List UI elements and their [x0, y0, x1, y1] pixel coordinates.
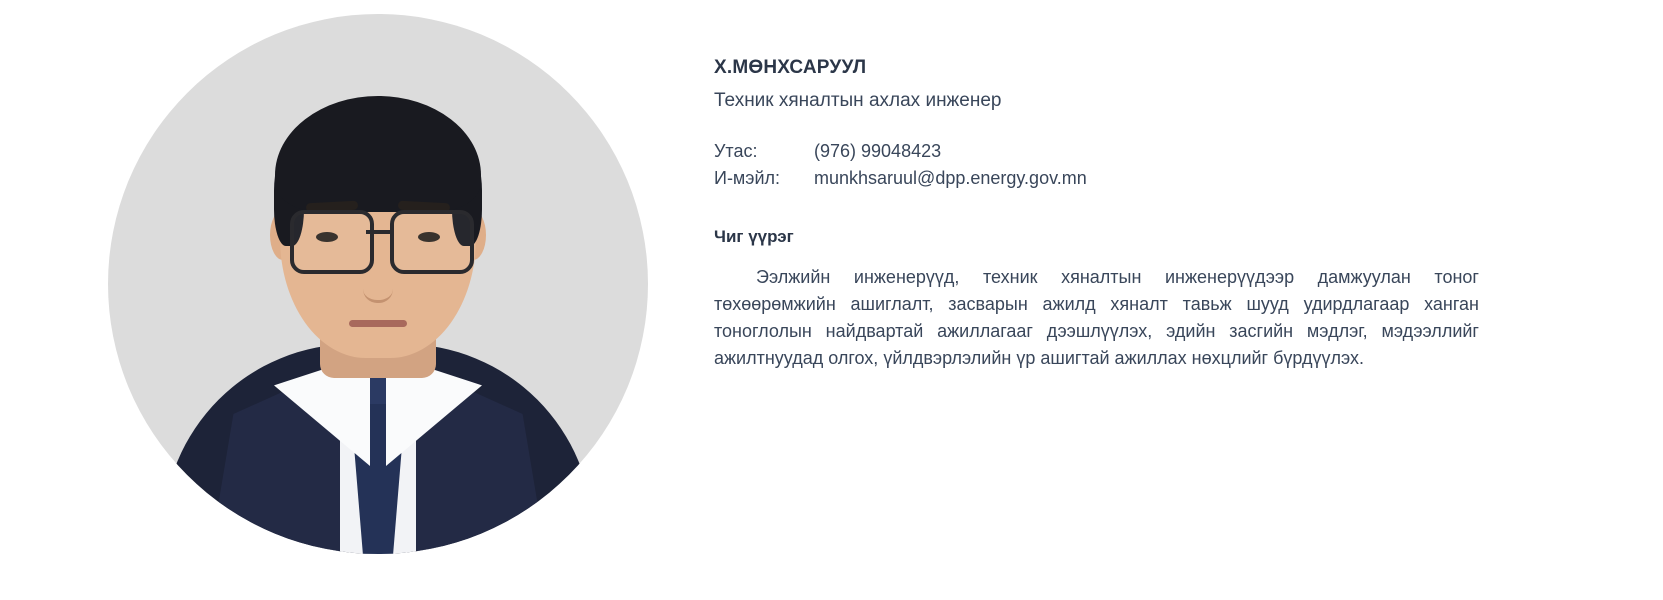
- hair: [275, 96, 481, 212]
- contact-row-phone: Утас:(976) 99048423: [714, 138, 1484, 165]
- eyeglasses-bridge: [366, 230, 390, 234]
- eyeglasses-lens-left: [290, 210, 374, 274]
- email-value[interactable]: munkhsaruul@dpp.energy.gov.mn: [814, 165, 1087, 192]
- contact-row-email: И-мэйл:munkhsaruul@dpp.energy.gov.mn: [714, 165, 1484, 192]
- person-name: Х.МӨНХСАРУУЛ: [714, 58, 1484, 79]
- nose: [363, 262, 393, 303]
- duties-paragraph: Ээлжийн инженерүүд, техник хяналтын инже…: [714, 267, 1479, 368]
- duties-text: Ээлжийн инженерүүд, техник хяналтын инже…: [714, 264, 1479, 372]
- portrait-photo: [108, 14, 648, 554]
- duties-section-title: Чиг үүрэг: [714, 228, 1484, 247]
- phone-value: (976) 99048423: [814, 138, 941, 165]
- contact-block: Утас:(976) 99048423 И-мэйл:munkhsaruul@d…: [714, 138, 1484, 192]
- portrait-circle-frame: [108, 14, 648, 554]
- person-position: Техник хяналтын ахлах инженер: [714, 91, 1484, 112]
- profile-info: Х.МӨНХСАРУУЛ Техник хяналтын ахлах инжен…: [714, 58, 1484, 372]
- employee-profile-card: Х.МӨНХСАРУУЛ Техник хяналтын ахлах инжен…: [0, 0, 1663, 600]
- eyeglasses-lens-right: [390, 210, 474, 274]
- mouth: [349, 320, 407, 327]
- email-label: И-мэйл:: [714, 165, 814, 192]
- phone-label: Утас:: [714, 138, 814, 165]
